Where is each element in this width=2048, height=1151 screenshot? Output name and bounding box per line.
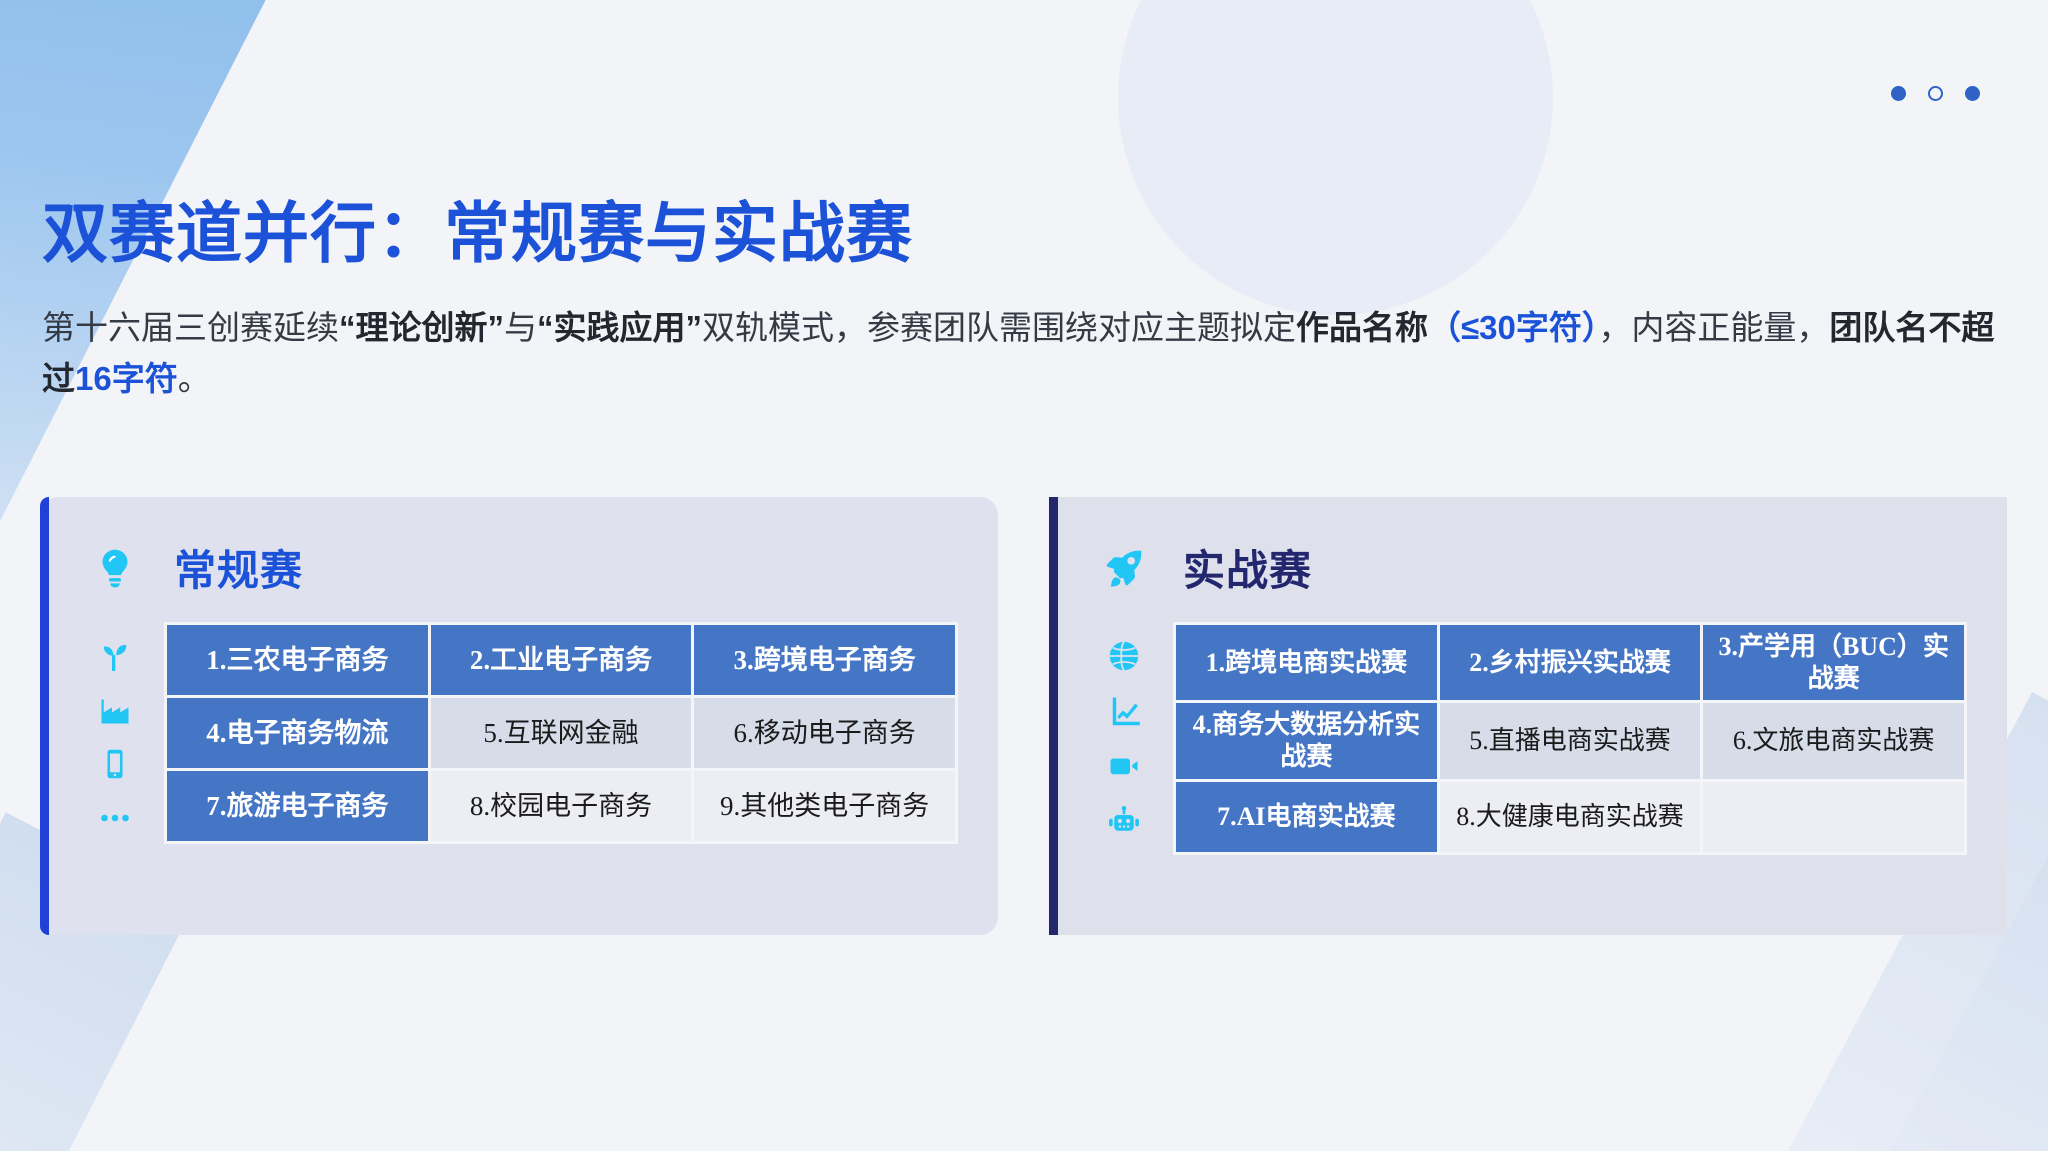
category-cell[interactable]: 8.大健康电商实战赛	[1440, 782, 1701, 852]
category-table: 1.三农电子商务2.工业电子商务3.跨境电子商务4.电子商务物流5.互联网金融6…	[164, 622, 958, 844]
card-accent-bar	[1049, 497, 1058, 935]
subtitle-segment-5: 作品名称	[1296, 309, 1428, 346]
category-cell[interactable]: 7.AI电商实战赛	[1176, 782, 1437, 852]
subtitle-segment-0: 第十六届三创赛延续	[42, 309, 339, 346]
category-cell[interactable]: 1.三农电子商务	[167, 625, 428, 695]
card-body: 1.三农电子商务2.工业电子商务3.跨境电子商务4.电子商务物流5.互联网金融6…	[86, 622, 958, 852]
category-cell[interactable]: 5.直播电商实战赛	[1440, 703, 1701, 778]
sprout-icon	[97, 638, 133, 674]
card-title: 常规赛	[174, 537, 303, 598]
card-side-icons	[86, 622, 144, 852]
lightbulb-icon	[92, 545, 138, 591]
category-cell[interactable]	[1703, 782, 1964, 852]
mobile-phone-icon	[97, 746, 133, 782]
card-accent-bar	[40, 497, 49, 935]
track-card-practical-track: 实战赛1.跨境电商实战赛2.乡村振兴实战赛3.产学用（BUC）实战赛4.商务大数…	[1049, 497, 2007, 935]
card-header: 常规赛	[86, 537, 958, 598]
subtitle-segment-10: 。	[178, 360, 211, 397]
table-row: 1.跨境电商实战赛2.乡村振兴实战赛3.产学用（BUC）实战赛	[1176, 625, 1964, 700]
pagination-dot-2[interactable]	[1928, 86, 1943, 101]
subtitle-segment-9: 16字符	[75, 360, 178, 397]
page-title: 双赛道并行：常规赛与实战赛	[42, 196, 2032, 272]
video-camera-icon	[1106, 748, 1142, 784]
subtitle-segment-7: ，内容正能量，	[1598, 309, 1829, 346]
subtitle-segment-4: 双轨模式，参赛团队需围绕对应主题拟定	[702, 309, 1296, 346]
category-cell[interactable]: 9.其他类电子商务	[694, 771, 955, 841]
rocket-icon	[1101, 545, 1147, 591]
line-chart-icon	[1106, 693, 1142, 729]
card-header: 实战赛	[1095, 537, 1967, 598]
category-cell[interactable]: 2.工业电子商务	[431, 625, 692, 695]
track-card-row: 常规赛1.三农电子商务2.工业电子商务3.跨境电子商务4.电子商务物流5.互联网…	[40, 497, 2008, 935]
card-body: 1.跨境电商实战赛2.乡村振兴实战赛3.产学用（BUC）实战赛4.商务大数据分析…	[1095, 622, 1967, 855]
subtitle-segment-2: 与	[504, 309, 537, 346]
card-title: 实战赛	[1183, 537, 1312, 598]
slide-root: 双赛道并行：常规赛与实战赛 第十六届三创赛延续“理论创新”与“实践应用”双轨模式…	[0, 0, 2048, 1151]
category-cell[interactable]: 6.移动电子商务	[694, 698, 955, 768]
header: 双赛道并行：常规赛与实战赛 第十六届三创赛延续“理论创新”与“实践应用”双轨模式…	[42, 196, 2032, 404]
category-cell[interactable]: 6.文旅电商实战赛	[1703, 703, 1964, 778]
subtitle-segment-1: “理论创新”	[339, 309, 504, 346]
factory-icon	[97, 692, 133, 728]
category-cell[interactable]: 2.乡村振兴实战赛	[1440, 625, 1701, 700]
pagination-dot-1[interactable]	[1891, 86, 1906, 101]
category-cell[interactable]: 7.旅游电子商务	[167, 771, 428, 841]
category-table: 1.跨境电商实战赛2.乡村振兴实战赛3.产学用（BUC）实战赛4.商务大数据分析…	[1173, 622, 1967, 855]
track-card-regular-track: 常规赛1.三农电子商务2.工业电子商务3.跨境电子商务4.电子商务物流5.互联网…	[40, 497, 998, 935]
page-subtitle: 第十六届三创赛延续“理论创新”与“实践应用”双轨模式，参赛团队需围绕对应主题拟定…	[42, 302, 2020, 404]
pagination-dots[interactable]	[1891, 86, 1980, 101]
pagination-dot-3[interactable]	[1965, 86, 1980, 101]
table-row: 4.商务大数据分析实战赛5.直播电商实战赛6.文旅电商实战赛	[1176, 703, 1964, 778]
category-cell[interactable]: 5.互联网金融	[431, 698, 692, 768]
category-cell[interactable]: 1.跨境电商实战赛	[1176, 625, 1437, 700]
table-row: 7.旅游电子商务8.校园电子商务9.其他类电子商务	[167, 771, 955, 841]
subtitle-segment-6: （≤30字符）	[1428, 309, 1598, 346]
category-cell[interactable]: 3.产学用（BUC）实战赛	[1703, 625, 1964, 700]
category-cell[interactable]: 4.电子商务物流	[167, 698, 428, 768]
subtitle-segment-3: “实践应用”	[537, 309, 702, 346]
category-cell[interactable]: 8.校园电子商务	[431, 771, 692, 841]
table-row: 7.AI电商实战赛8.大健康电商实战赛	[1176, 782, 1964, 852]
ellipsis-icon	[97, 800, 133, 836]
table-row: 1.三农电子商务2.工业电子商务3.跨境电子商务	[167, 625, 955, 695]
globe-icon	[1106, 638, 1142, 674]
card-side-icons	[1095, 622, 1153, 855]
robot-icon	[1106, 803, 1142, 839]
category-cell[interactable]: 3.跨境电子商务	[694, 625, 955, 695]
table-row: 4.电子商务物流5.互联网金融6.移动电子商务	[167, 698, 955, 768]
category-cell[interactable]: 4.商务大数据分析实战赛	[1176, 703, 1437, 778]
